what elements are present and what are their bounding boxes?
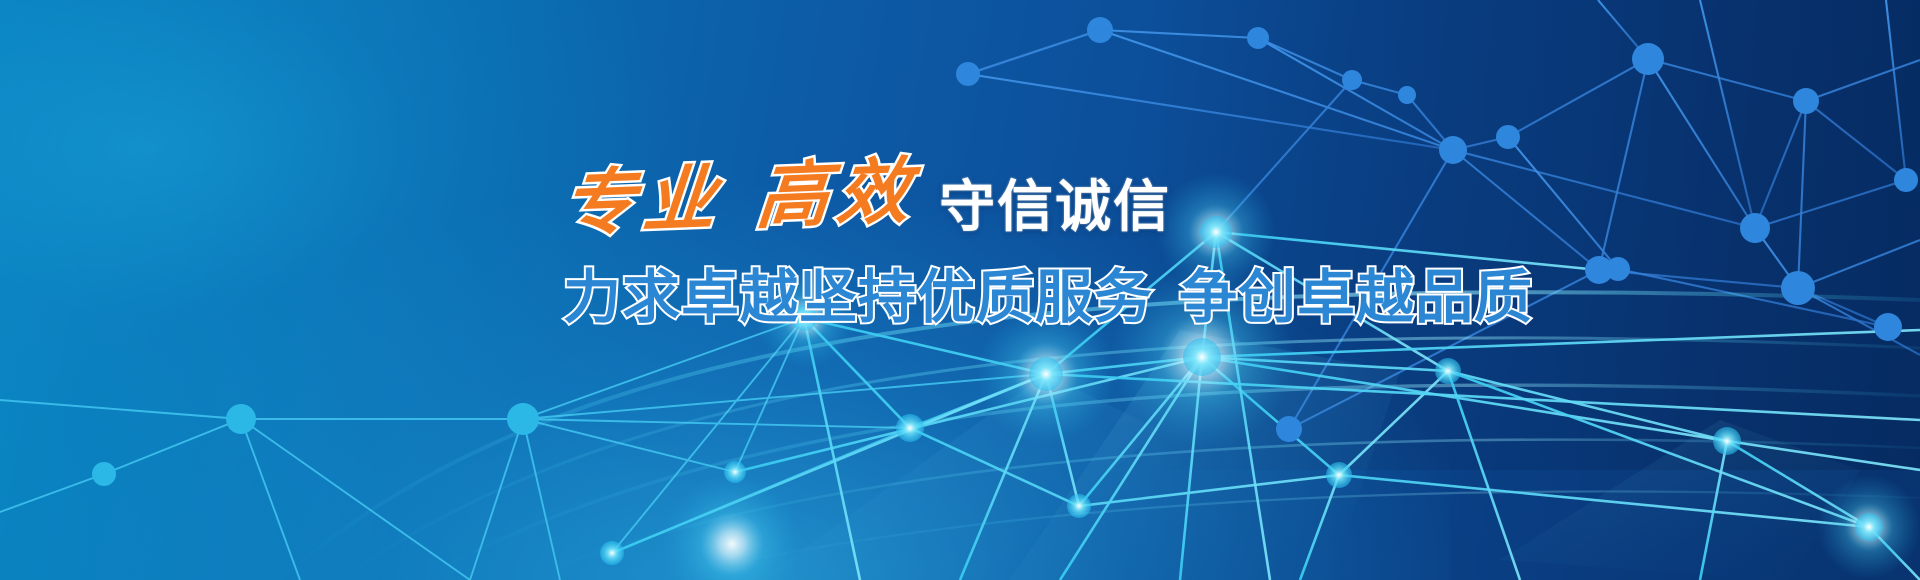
promo-banner: 专业 高效 守信诚信 力求卓越坚持优质服务争创卓越品质 — [0, 0, 1920, 580]
network-nodes-left — [92, 403, 539, 486]
light-sheets — [760, 330, 1860, 580]
network-artwork — [0, 0, 1920, 580]
